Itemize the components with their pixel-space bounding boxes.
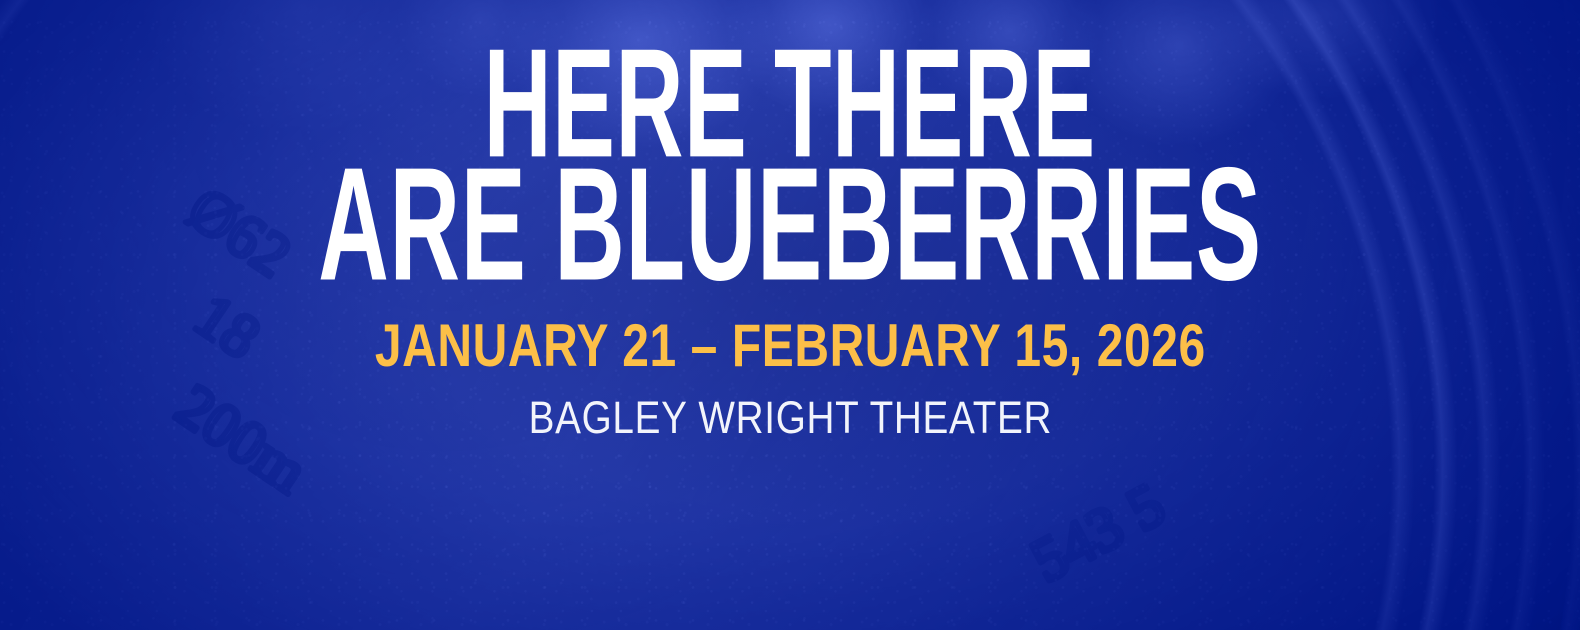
- performance-date-range: JANUARY 21 – FEBRUARY 15, 2026: [375, 311, 1206, 380]
- show-title-line-2: ARE BLUEBERRIES: [318, 154, 1262, 296]
- venue-name: BAGLEY WRIGHT THEATER: [528, 392, 1052, 444]
- banner-content: HERE THERE ARE BLUEBERRIES JANUARY 21 – …: [0, 0, 1580, 630]
- show-promo-banner: Ø62 18 200m 543 5 HERE THERE ARE BLUEBER…: [0, 0, 1580, 630]
